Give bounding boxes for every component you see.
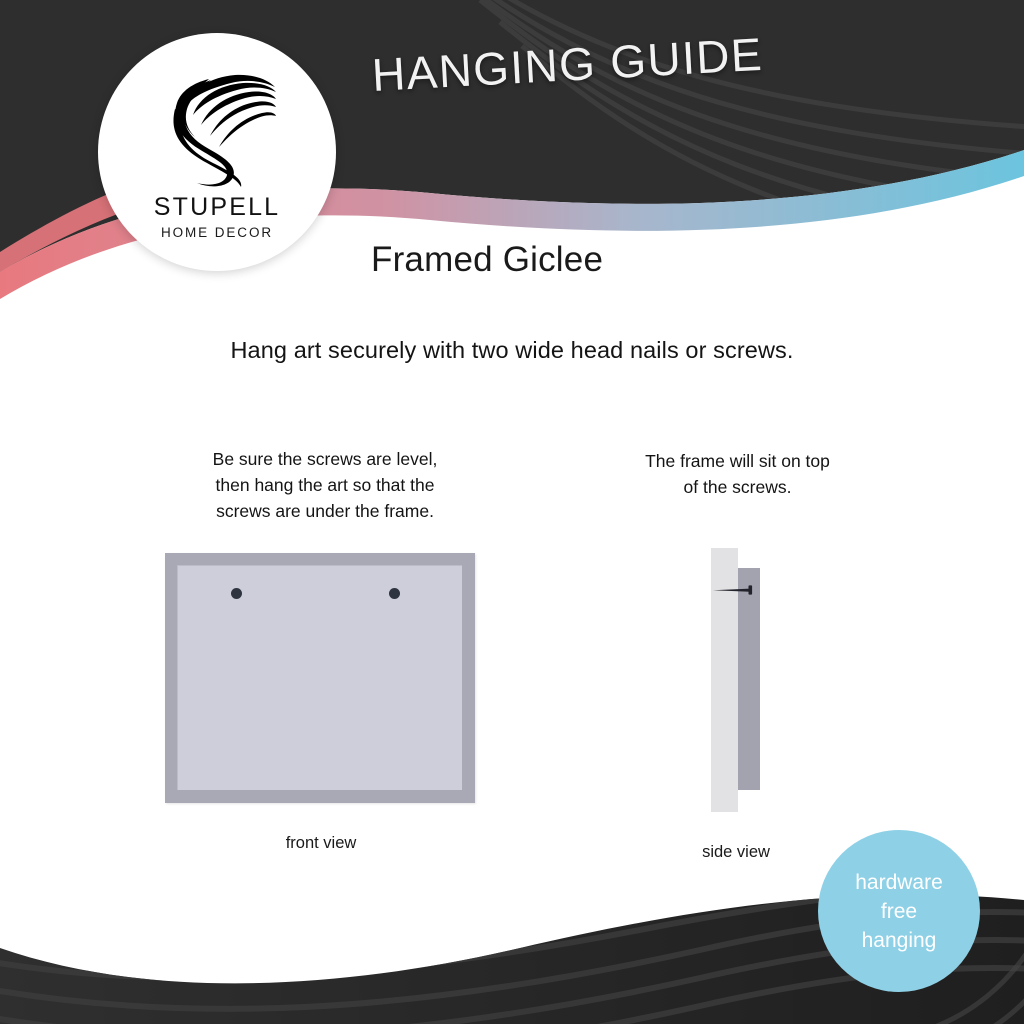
- side-caption-line-1: The frame will sit on top: [595, 448, 880, 474]
- front-caption-line-2: then hang the art so that the: [160, 472, 490, 498]
- stupell-swirl-s-logo-icon: [157, 63, 277, 191]
- logo-subtext: HOME DECOR: [161, 225, 273, 240]
- side-caption-line-2: of the screws.: [595, 474, 880, 500]
- front-view-mat: [177, 565, 462, 790]
- badge-line-3: hanging: [862, 926, 937, 955]
- side-view-diagram: [705, 540, 775, 820]
- side-view-caption: The frame will sit on top of the screws.: [595, 448, 880, 500]
- front-view-label: front view: [205, 834, 437, 853]
- front-view-caption: Be sure the screws are level, then hang …: [160, 446, 490, 524]
- badge-line-2: free: [881, 897, 917, 926]
- lead-instruction: Hang art securely with two wide head nai…: [0, 337, 1024, 364]
- side-view-frame: [738, 568, 760, 790]
- nail-icon: [713, 585, 759, 595]
- side-view-label: side view: [640, 843, 832, 862]
- product-type-title: Framed Giclee: [371, 240, 603, 280]
- hanging-guide-poster: STUPELL HOME DECOR HANGING GUIDE Framed …: [0, 0, 1024, 1024]
- hardware-free-hanging-badge: hardware free hanging: [818, 830, 980, 992]
- front-caption-line-3: screws are under the frame.: [160, 498, 490, 524]
- front-caption-line-1: Be sure the screws are level,: [160, 446, 490, 472]
- screw-dot-left: [231, 588, 242, 599]
- front-view-frame-diagram: [165, 553, 475, 803]
- brand-logo-badge: STUPELL HOME DECOR: [98, 33, 336, 271]
- badge-line-1: hardware: [855, 868, 943, 897]
- screw-dot-right: [389, 588, 400, 599]
- logo-wordmark: STUPELL: [154, 193, 281, 222]
